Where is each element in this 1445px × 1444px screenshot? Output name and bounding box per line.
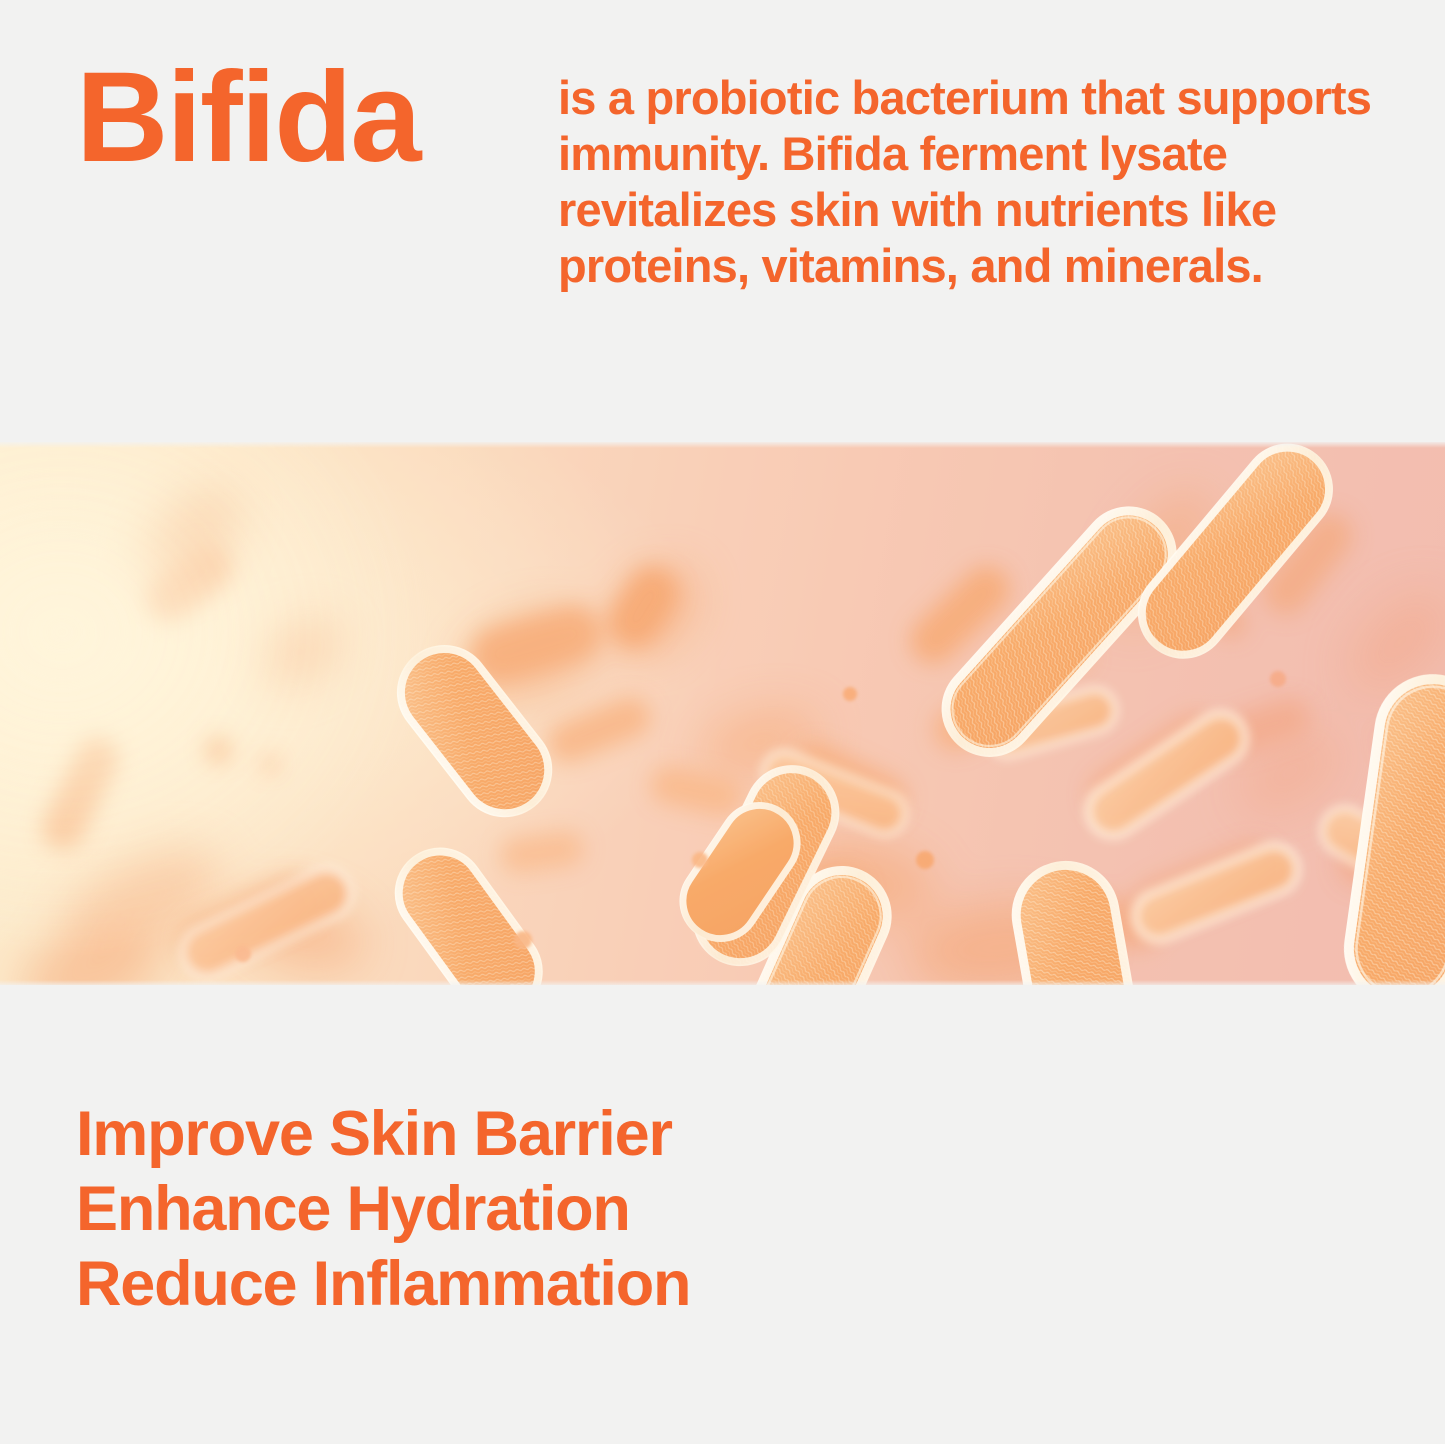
header-section: Bifida is a probiotic bacterium that sup… [0,0,1445,442]
product-ingredient-infographic: Bifida is a probiotic bacterium that sup… [0,0,1445,1444]
page-title: Bifida [76,54,420,182]
benefit-item: Reduce Inflammation [76,1247,690,1322]
band-top-edge [0,442,1445,448]
bacteria-illustration [0,442,1445,985]
benefit-item: Improve Skin Barrier [76,1097,690,1172]
hero-image-band [0,442,1445,985]
benefits-section: Improve Skin Barrier Enhance Hydration R… [0,985,1445,1444]
benefits-list: Improve Skin Barrier Enhance Hydration R… [76,1097,690,1322]
benefit-item: Enhance Hydration [76,1172,690,1247]
ingredient-description: is a probiotic bacterium that supports i… [558,70,1388,294]
